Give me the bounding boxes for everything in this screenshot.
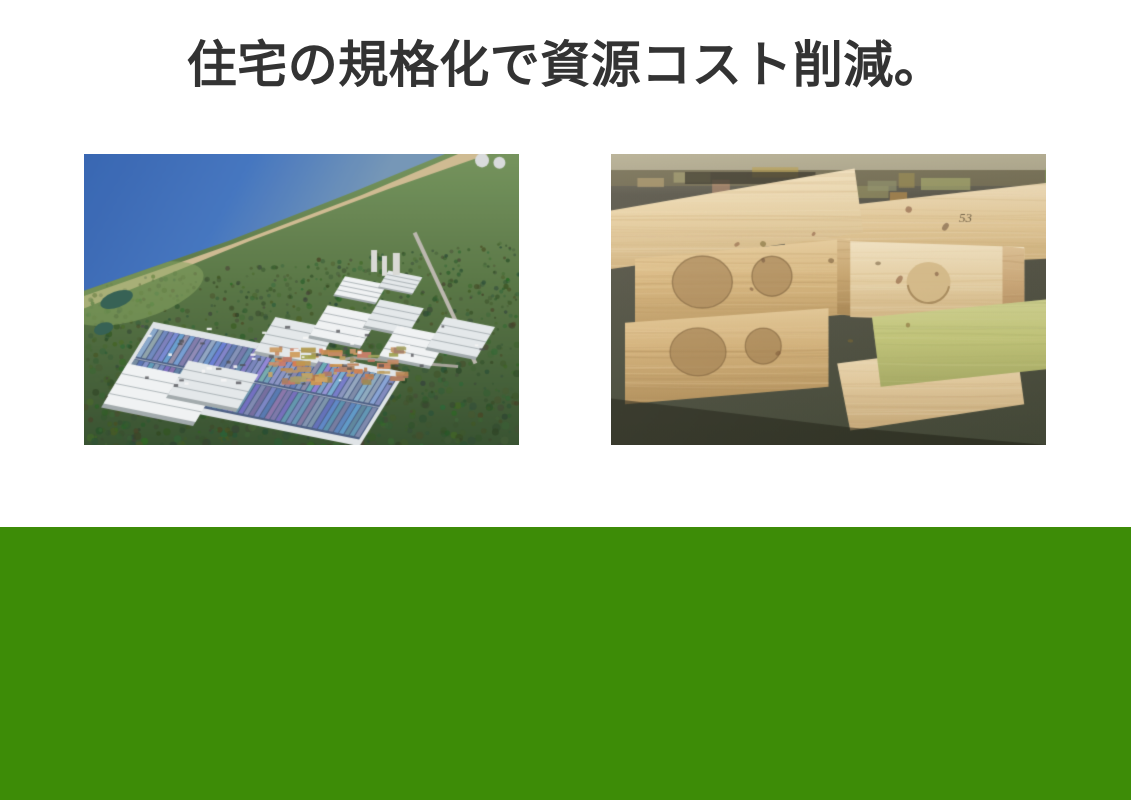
aerial-factory-photo [84,154,519,445]
slide-root: 住宅の規格化で資源コスト削減。 私たちは住宅の規格化を進め、全国で建てる木材の一… [0,0,1131,800]
precut-timber-photo-canvas [611,154,1046,445]
media-row [84,154,1046,445]
aerial-factory-photo-canvas [84,154,519,445]
precut-timber-photo [611,154,1046,445]
page-title: 住宅の規格化で資源コスト削減。 [0,34,1131,97]
green-accent-band: 私たちは住宅の規格化を進め、全国で建てる木材の一部を自社工場で一括して製造するこ… [0,527,1131,800]
